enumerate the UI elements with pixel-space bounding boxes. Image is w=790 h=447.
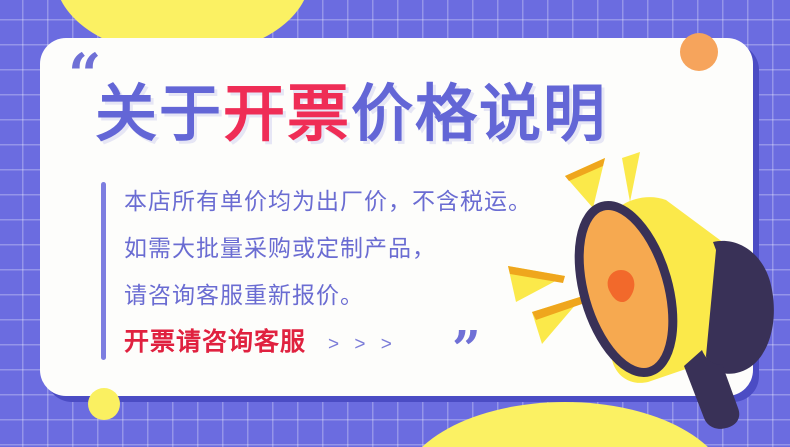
title-segment-pricing: 价格说明 xyxy=(351,80,607,149)
megaphone-icon xyxy=(470,150,790,440)
promo-banner: “ 关于开票价格说明 本店所有单价均为出厂价，不含税运。 如需大批量采购或定制产… xyxy=(0,0,790,447)
cta-label: 开票请咨询客服 xyxy=(124,328,306,356)
left-accent-bar xyxy=(101,182,106,360)
yellow-circle xyxy=(88,388,120,420)
orange-circle xyxy=(680,33,718,71)
megaphone-body xyxy=(706,241,774,374)
cta-arrows-icon: > > > xyxy=(328,334,397,355)
page-title: 关于开票价格说明 xyxy=(95,84,607,146)
title-segment-invoice: 开票 xyxy=(223,80,351,149)
title-segment-about: 关于 xyxy=(95,80,223,149)
